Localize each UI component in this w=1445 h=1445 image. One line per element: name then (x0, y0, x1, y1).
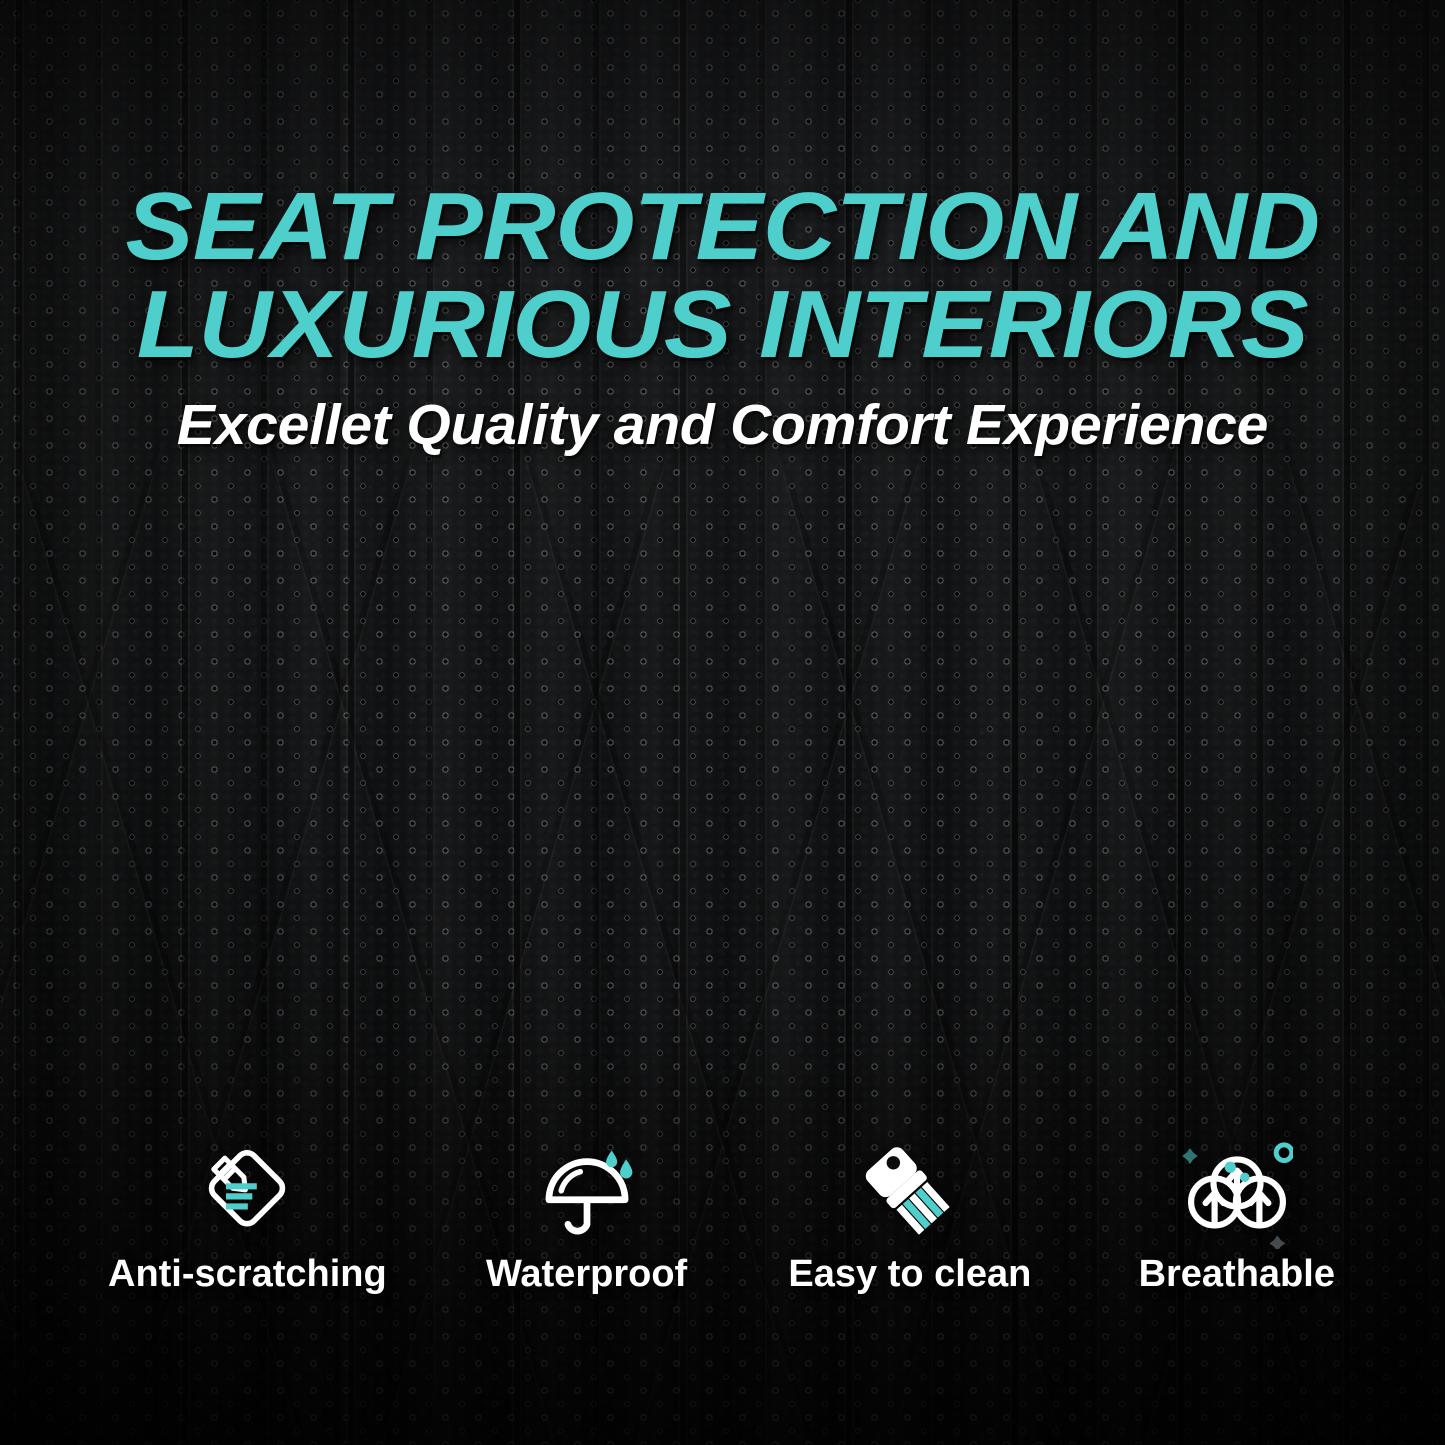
feature-label: Anti-scratching (108, 1255, 387, 1293)
feature-waterproof: Waterproof (486, 1137, 687, 1293)
feature-label: Breathable (1139, 1255, 1335, 1293)
feature-label: Waterproof (486, 1255, 687, 1293)
umbrella-droplets-icon (531, 1137, 643, 1249)
feature-breathable: Breathable (1139, 1137, 1335, 1293)
page-title: SEAT PROTECTION AND LUXURIOUS INTERIORS (0, 178, 1445, 374)
headline-line-2: LUXURIOUS INTERIORS (0, 276, 1445, 374)
headline-line-1: SEAT PROTECTION AND (0, 178, 1445, 276)
product-feature-poster: SEAT PROTECTION AND LUXURIOUS INTERIORS … (0, 0, 1445, 1445)
page-subtitle: Excellet Quality and Comfort Experience (0, 396, 1445, 456)
scrub-brush-icon (854, 1137, 966, 1249)
feature-anti-scratching: Anti-scratching (108, 1137, 387, 1293)
headline-block: SEAT PROTECTION AND LUXURIOUS INTERIORS … (0, 178, 1445, 456)
leather-swatch-pen-icon (191, 1137, 303, 1249)
feature-easy-to-clean: Easy to clean (788, 1137, 1031, 1293)
airflow-arrows-icon (1181, 1137, 1293, 1249)
feature-label: Easy to clean (788, 1255, 1031, 1293)
feature-list: Anti-scratching Waterproof (96, 1137, 1349, 1293)
